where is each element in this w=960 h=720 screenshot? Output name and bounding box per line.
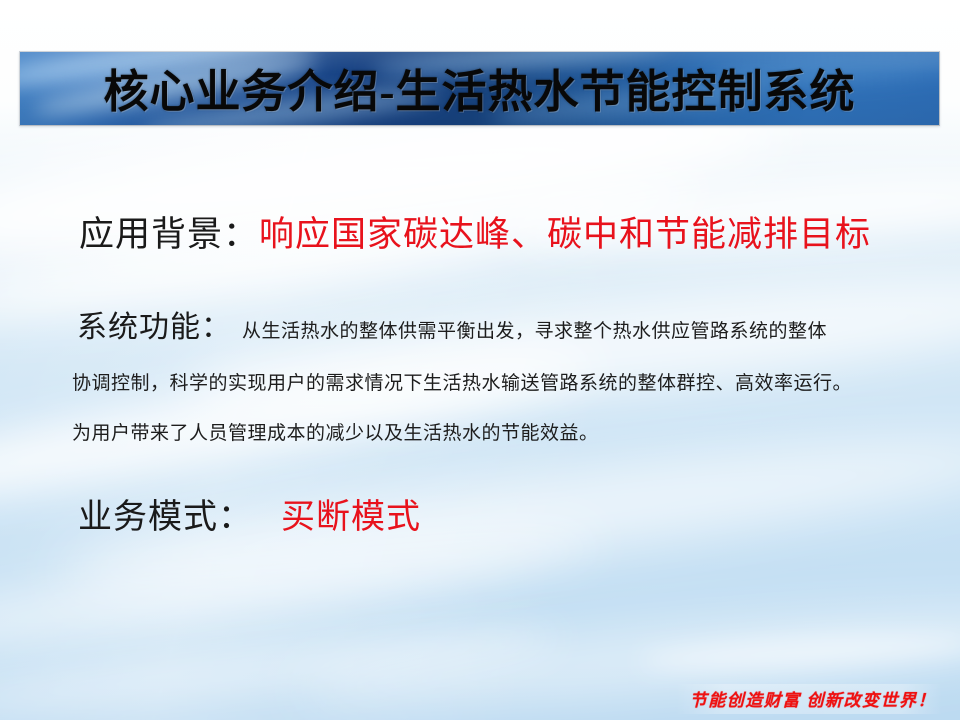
system-function-line-1: 从生活热水的整体供需平衡出发，寻求整个热水供应管路系统的整体 [242, 321, 827, 342]
section-business-mode: 业务模式：买断模式 [78, 489, 421, 538]
application-background-value: 响应国家碳达峰、碳中和节能减排目标 [259, 215, 871, 254]
footer-slogan: 节能创造财富 创新改变世界！ [676, 684, 942, 714]
system-function-label: 系统功能： [77, 311, 232, 344]
slide-content: 应用背景：响应国家碳达峰、碳中和节能减排目标 系统功能：从生活热水的整体供需平衡… [0, 0, 960, 720]
system-function-line-2: 协调控制，科学的实现用户的需求情况下生活热水输送管路系统的整体群控、高效率运行。 [72, 368, 852, 395]
section-system-function: 系统功能：从生活热水的整体供需平衡出发，寻求整个热水供应管路系统的整体 [77, 302, 827, 346]
system-function-line-3: 为用户带来了人员管理成本的减少以及生活热水的节能效益。 [72, 418, 599, 445]
slide-canvas: 核心业务介绍-生活热水节能控制系统 应用背景：响应国家碳达峰、碳中和节能减排目标… [0, 0, 960, 720]
business-mode-value: 买断模式 [281, 499, 421, 536]
business-mode-label: 业务模式： [78, 499, 253, 536]
application-background-label: 应用背景： [79, 215, 259, 254]
section-application-background: 应用背景：响应国家碳达峰、碳中和节能减排目标 [79, 206, 871, 257]
